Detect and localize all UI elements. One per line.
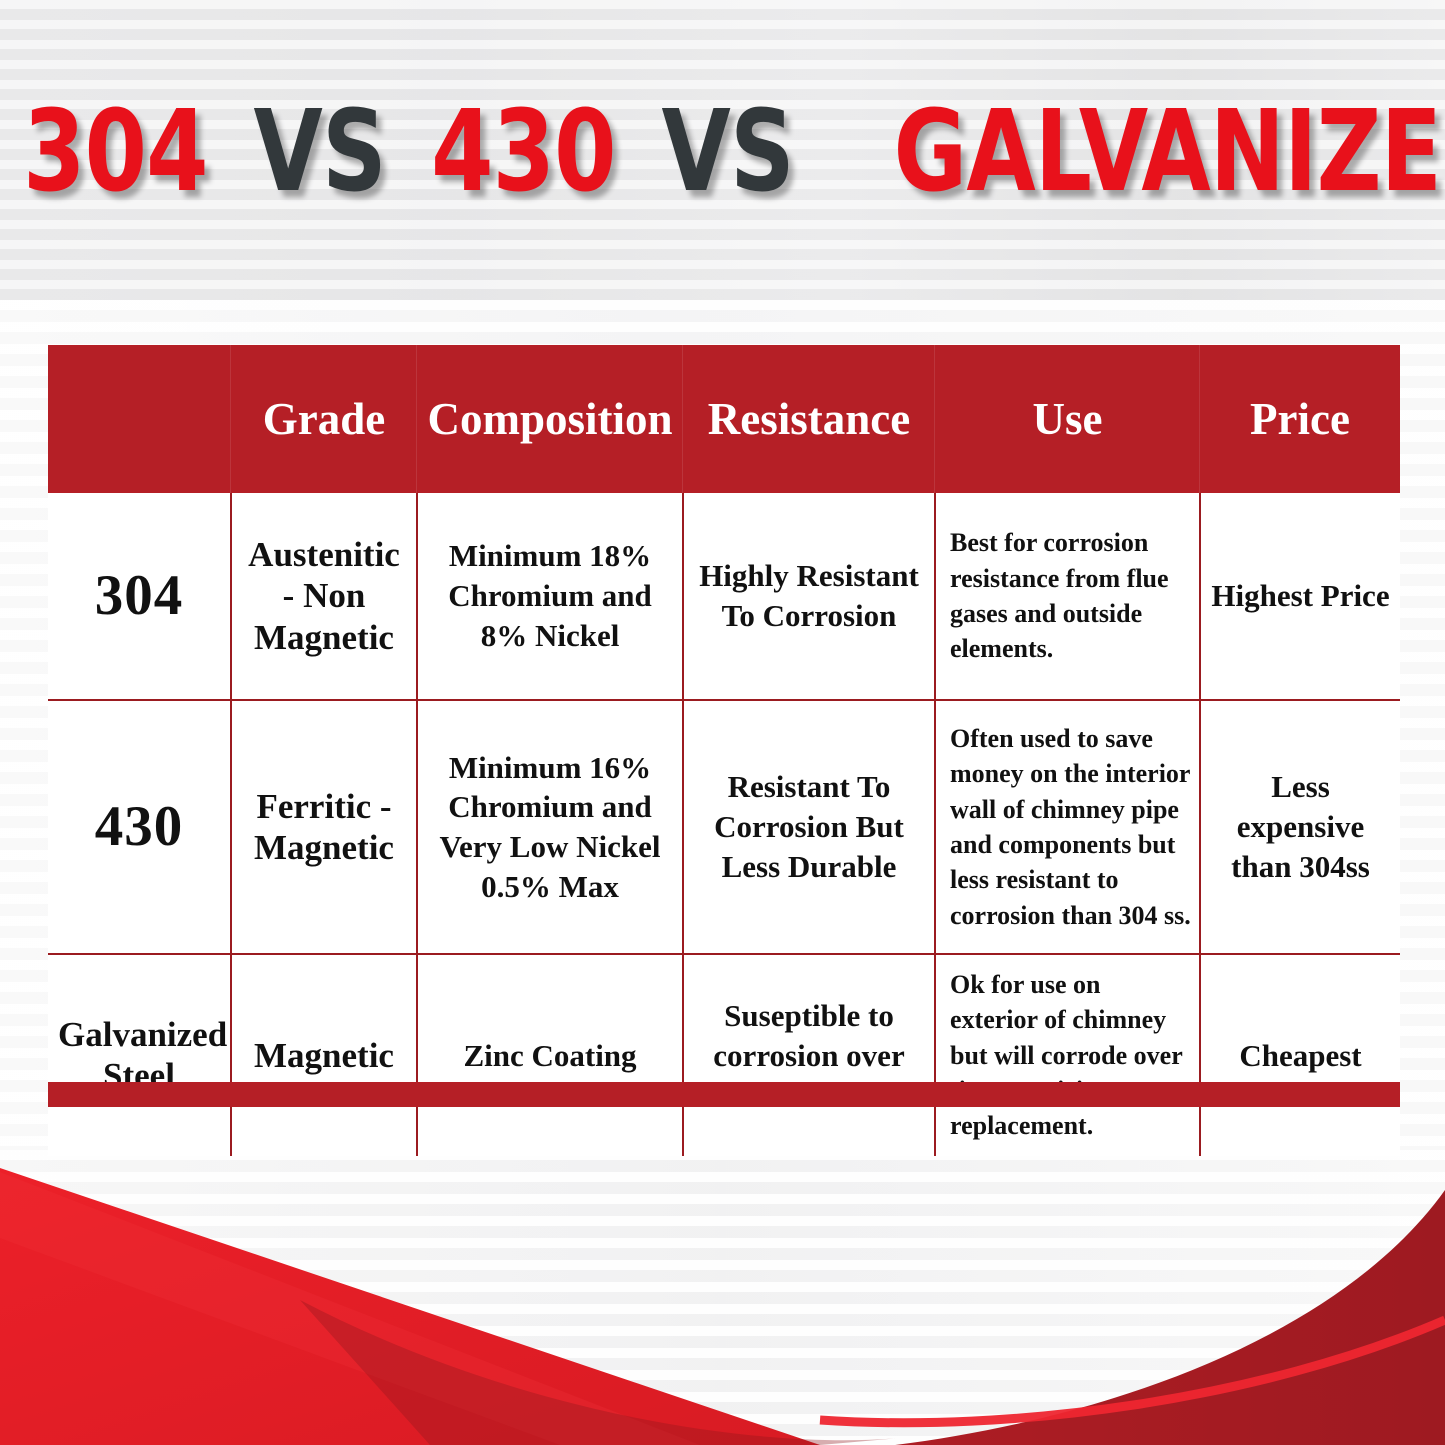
cell-resistance: Resistant To Corrosion But Less Durable	[683, 700, 935, 954]
table-row: 304 Austenitic - Non Magnetic Minimum 18…	[48, 493, 1400, 700]
column-header-material	[48, 345, 231, 493]
cell-grade: Austenitic - Non Magnetic	[231, 493, 417, 700]
comparison-table-container: Grade Composition Resistance Use Price 3…	[48, 345, 1400, 1156]
cell-price: Highest Price	[1200, 493, 1400, 700]
infographic-page: 304VS430VSGALVANIZED Grade Composition R…	[0, 0, 1445, 1445]
cell-composition: Zinc Coating	[417, 954, 683, 1156]
cell-grade: Ferritic - Magnetic	[231, 700, 417, 954]
cell-material: 430	[48, 700, 231, 954]
decorative-footer-graphic	[0, 1150, 1445, 1445]
column-header-composition: Composition	[417, 345, 683, 493]
cell-use: Often used to save money on the interior…	[935, 700, 1200, 954]
table-row: Galvanized Steel Magnetic Zinc Coating S…	[48, 954, 1400, 1156]
page-title: 304VS430VSGALVANIZED	[0, 96, 1445, 208]
cell-use: Ok for use on exterior of chimney but wi…	[935, 954, 1200, 1156]
column-header-use: Use	[935, 345, 1200, 493]
title-part-304: 304	[23, 96, 208, 208]
table-row: 430 Ferritic - Magnetic Minimum 16% Chro…	[48, 700, 1400, 954]
cell-price: Less expensive than 304ss	[1200, 700, 1400, 954]
comparison-table: Grade Composition Resistance Use Price 3…	[48, 345, 1400, 1156]
column-header-grade: Grade	[231, 345, 417, 493]
title-part-vs-1: VS	[253, 96, 385, 208]
title-part-430: 430	[431, 96, 616, 208]
column-header-price: Price	[1200, 345, 1400, 493]
title-part-vs-2: VS	[661, 96, 793, 208]
cell-resistance: Highly Resistant To Corrosion	[683, 493, 935, 700]
cell-composition: Minimum 18% Chromium and 8% Nickel	[417, 493, 683, 700]
cell-use: Best for corrosion resistance from flue …	[935, 493, 1200, 700]
title-part-galvanized: GALVANIZED	[894, 96, 1445, 208]
table-header-row: Grade Composition Resistance Use Price	[48, 345, 1400, 493]
cell-grade: Magnetic	[231, 954, 417, 1156]
table-footer-bar	[48, 1082, 1400, 1107]
cell-material: Galvanized Steel	[48, 954, 231, 1156]
cell-material: 304	[48, 493, 231, 700]
column-header-resistance: Resistance	[683, 345, 935, 493]
cell-resistance: Suseptible to corrosion over time	[683, 954, 935, 1156]
cell-composition: Minimum 16% Chromium and Very Low Nickel…	[417, 700, 683, 954]
cell-price: Cheapest	[1200, 954, 1400, 1156]
